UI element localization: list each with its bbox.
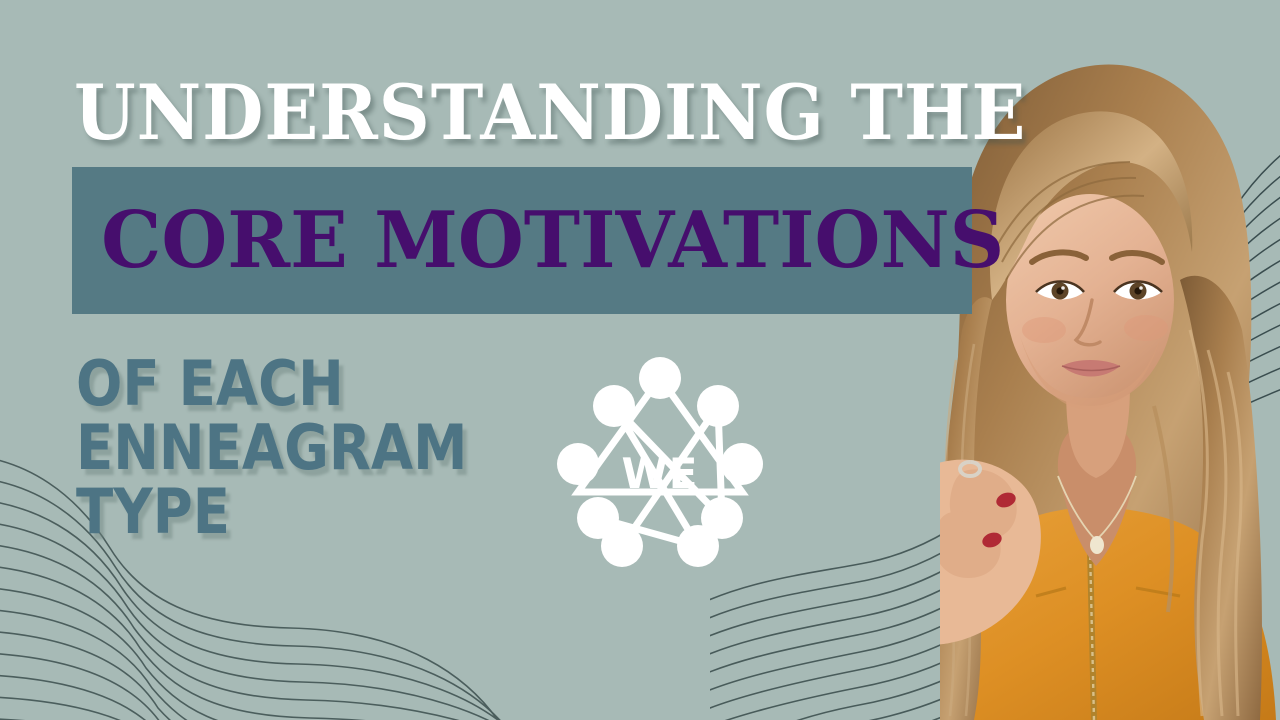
enneagram-node-2 <box>721 443 763 485</box>
enneagram-node-6 <box>577 497 619 539</box>
subtitle-line-2: ENNEAGRAM <box>76 416 534 480</box>
logo-center-text: WE <box>621 449 698 498</box>
slide-canvas: UNDERSTANDING THE CORE MOTIVATIONS OF EA… <box>0 0 1280 720</box>
subtitle-line-1: OF EACH <box>76 352 534 416</box>
enneagram-node-9 <box>639 357 681 399</box>
subtitle: OF EACH ENNEAGRAM TYPE <box>76 352 534 544</box>
band-highlight: CORE MOTIVATIONS <box>72 167 972 314</box>
subtitle-line-3: TYPE <box>76 480 534 544</box>
enneagram-node-8 <box>593 385 635 427</box>
page-title: UNDERSTANDING THE <box>74 72 911 154</box>
enneagram-node-7 <box>557 443 599 485</box>
band-title: CORE MOTIVATIONS <box>72 167 945 314</box>
enneagram-node-4 <box>677 525 719 567</box>
enneagram-node-1 <box>697 385 739 427</box>
enneagram-logo-icon: WE <box>552 356 768 572</box>
